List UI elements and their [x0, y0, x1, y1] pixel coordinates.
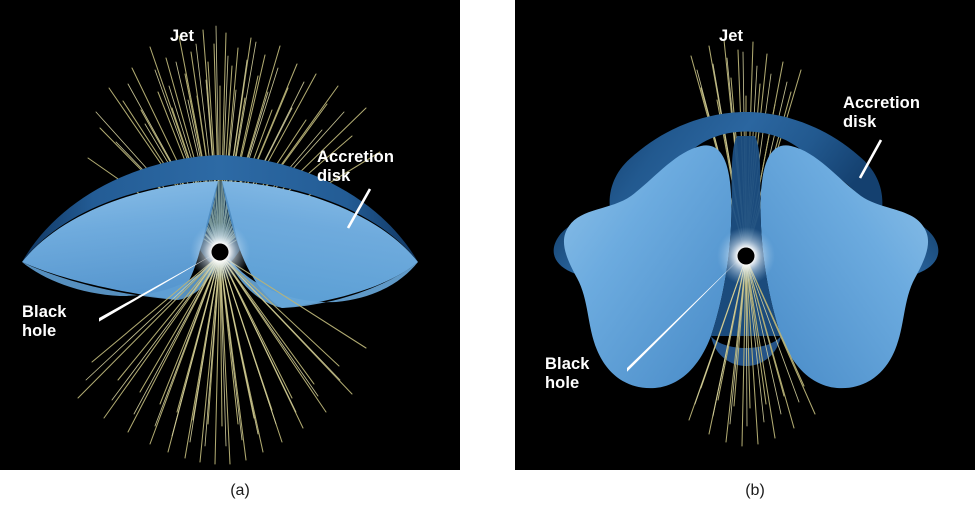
black-hole-core: [738, 248, 755, 265]
panel-b: Jet Accretion disk Black hole: [515, 0, 975, 470]
accretion-disk-lower-lip: [711, 336, 781, 366]
panel-b-illustration: [515, 0, 975, 470]
black-hole-core: [212, 244, 229, 261]
figure-container: Jet Accretion disk Black hole: [0, 0, 975, 509]
panel-a: Jet Accretion disk Black hole: [0, 0, 460, 470]
panel-b-caption: (b): [695, 482, 815, 500]
panel-a-caption: (a): [180, 482, 300, 500]
panel-a-illustration: [0, 0, 460, 470]
